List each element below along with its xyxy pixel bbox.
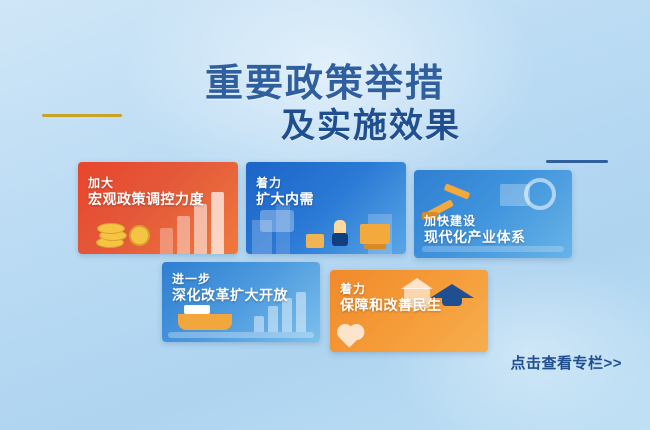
card-livelihood-label: 着力 保障和改善民生 [340,282,442,315]
page-title-line2-text: 及实施效果 [281,98,461,147]
card-industrial-system[interactable]: 加快建设 现代化产业体系 [414,170,572,258]
card-macro-policy-label: 加大 宏观政策调控力度 [88,176,204,209]
wave-icon [168,332,314,338]
card-reform-opening-label: 进一步 深化改革扩大开放 [172,272,288,305]
card-macro-policy[interactable]: 加大 宏观政策调控力度 [78,162,238,254]
card-reform-opening-label-big: 深化改革扩大开放 [172,287,288,305]
policy-card-grid: 加大 宏观政策调控力度 着力 扩大内需 [0,150,650,350]
card-macro-policy-label-big: 宏观政策调控力度 [88,191,204,209]
card-livelihood[interactable]: 着力 保障和改善民生 [330,270,488,352]
card-domestic-demand-label: 着力 扩大内需 [256,176,314,209]
card-industrial-system-label-small: 加快建设 [424,214,526,229]
view-column-link[interactable]: 点击查看专栏>> [510,352,622,373]
card-livelihood-label-small: 着力 [340,282,442,297]
card-industrial-system-label-big: 现代化产业体系 [424,229,526,247]
card-domestic-demand-label-small: 着力 [256,176,314,191]
coin-stack-icon [96,218,136,248]
card-industrial-system-label: 加快建设 现代化产业体系 [424,214,526,247]
card-domestic-demand-label-big: 扩大内需 [256,191,314,209]
heart-icon [339,326,360,347]
card-livelihood-label-big: 保障和改善民生 [340,297,442,315]
poster-title-block: 重要政策举措 及实施效果 [0,52,650,162]
card-reform-opening-label-small: 进一步 [172,272,288,287]
card-domestic-demand[interactable]: 着力 扩大内需 [246,162,406,254]
conveyor-belt-icon [422,246,564,252]
policy-poster: 重要政策举措 及实施效果 加大 宏观政策调控力度 [0,0,650,430]
cargo-ship-icon [178,314,232,330]
card-macro-policy-label-small: 加大 [88,176,204,191]
gear-icon [524,178,556,210]
page-title-line2: 及实施效果 [0,98,650,147]
card-reform-opening[interactable]: 进一步 深化改革扩大开放 [162,262,320,342]
